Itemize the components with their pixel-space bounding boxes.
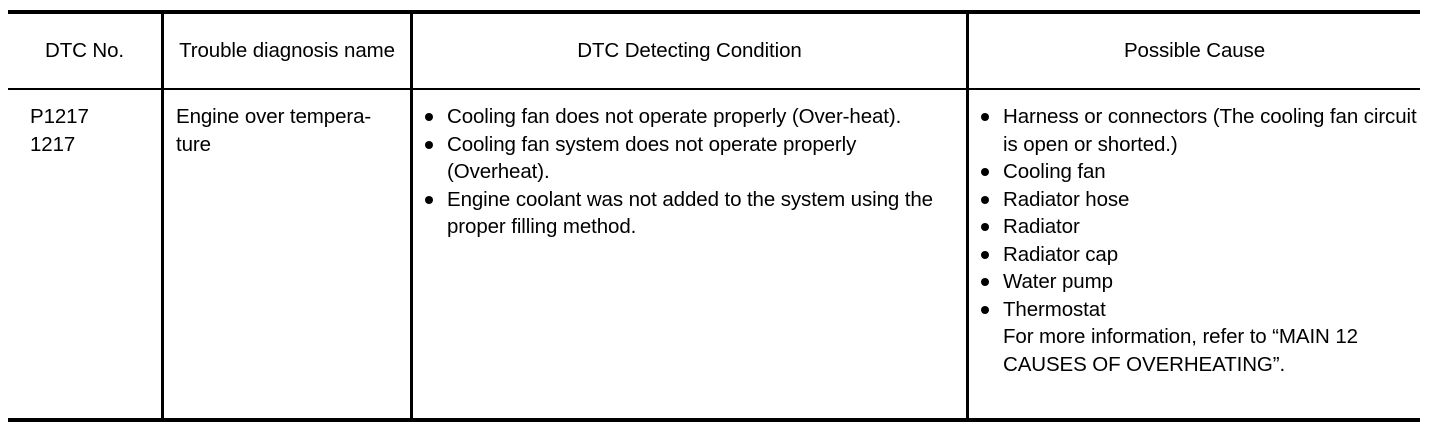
column-header-dtc-no: DTC No. bbox=[8, 14, 161, 88]
list-item-label: Cooling fan does not operate properly (O… bbox=[447, 105, 901, 128]
bullet-icon bbox=[981, 251, 989, 259]
list-item: Cooling fan does not operate properly (O… bbox=[422, 103, 962, 131]
list-item-label: Water pump bbox=[1003, 270, 1113, 293]
list-item: Radiator hose bbox=[978, 186, 1418, 214]
document-page: DTC No. Trouble diagnosis name DTC Detec… bbox=[0, 0, 1456, 438]
list-item-label: Radiator cap bbox=[1003, 243, 1118, 266]
bullet-icon bbox=[981, 306, 989, 314]
column-header-dtc-detecting-condition: DTC Detecting Condition bbox=[413, 14, 966, 88]
list-item: Engine coolant was not added to the syst… bbox=[422, 186, 962, 241]
list-item-label: Radiator bbox=[1003, 215, 1080, 238]
cell-dtc-no: P1217 1217 bbox=[30, 90, 160, 158]
cell-possible-cause: Harness or connectors (The cooling fan c… bbox=[978, 90, 1418, 378]
dtc-no-primary: P1217 bbox=[30, 103, 160, 131]
bullet-icon bbox=[981, 223, 989, 231]
list-item-label: Cooling fan system does not operate prop… bbox=[447, 133, 856, 184]
list-item: Radiator bbox=[978, 213, 1418, 241]
detecting-condition-list: Cooling fan does not operate properly (O… bbox=[422, 103, 962, 241]
possible-cause-list: Harness or connectors (The cooling fan c… bbox=[978, 103, 1418, 323]
column-header-possible-cause: Possible Cause bbox=[969, 14, 1420, 88]
bullet-icon bbox=[425, 196, 433, 204]
bullet-icon bbox=[981, 196, 989, 204]
list-item-label: Harness or connectors (The cooling fan c… bbox=[1003, 105, 1417, 156]
bullet-icon bbox=[981, 278, 989, 286]
dtc-no-secondary: 1217 bbox=[30, 131, 160, 159]
bullet-icon bbox=[425, 141, 433, 149]
cell-trouble-diagnosis-name: Engine over tempera-ture bbox=[176, 90, 404, 158]
list-item: Harness or connectors (The cooling fan c… bbox=[978, 103, 1418, 158]
list-item: Radiator cap bbox=[978, 241, 1418, 269]
column-header-trouble-diagnosis-name: Trouble diagnosis name bbox=[164, 14, 410, 88]
bullet-icon bbox=[425, 113, 433, 121]
list-item-label: Engine coolant was not added to the syst… bbox=[447, 188, 933, 239]
bullet-icon bbox=[981, 113, 989, 121]
list-item: Cooling fan bbox=[978, 158, 1418, 186]
list-item-label: Thermostat bbox=[1003, 298, 1106, 321]
list-item-label: Radiator hose bbox=[1003, 188, 1129, 211]
possible-cause-note: For more information, refer to “MAIN 12 … bbox=[978, 323, 1418, 378]
cell-dtc-detecting-condition: Cooling fan does not operate properly (O… bbox=[422, 90, 962, 241]
bullet-icon bbox=[981, 168, 989, 176]
list-item-label: Cooling fan bbox=[1003, 160, 1106, 183]
dtc-table: DTC No. Trouble diagnosis name DTC Detec… bbox=[8, 10, 1420, 422]
list-item: Thermostat bbox=[978, 296, 1418, 324]
list-item: Water pump bbox=[978, 268, 1418, 296]
table-bottom-border bbox=[8, 418, 1420, 422]
list-item: Cooling fan system does not operate prop… bbox=[422, 131, 962, 186]
